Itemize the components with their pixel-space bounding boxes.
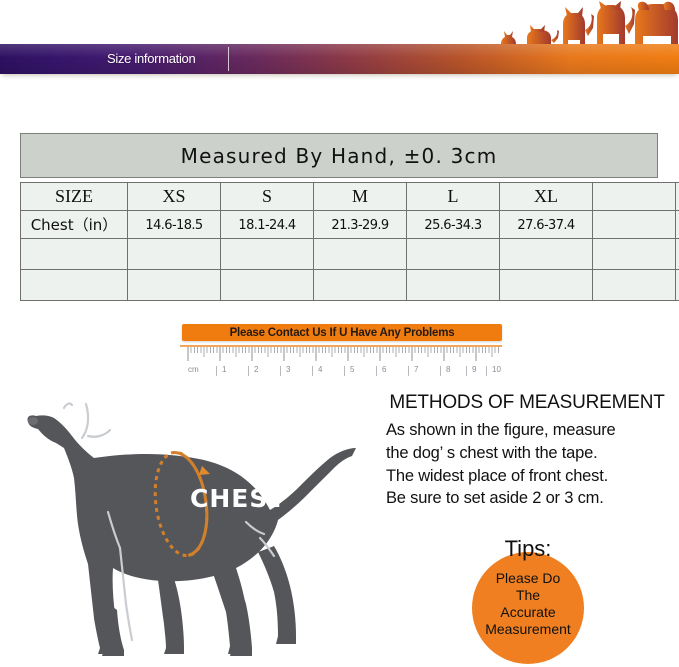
header-banner: Size information	[0, 0, 679, 86]
column-header-m: M	[352, 186, 368, 206]
ruler-label-8: 8	[446, 365, 450, 374]
ruler-graphic: cm 1 2 3 4 5 6 7 8 9 10	[180, 345, 502, 381]
tips-line-4: Measurement	[462, 621, 594, 638]
ruler-label-6: 6	[382, 365, 386, 374]
cell-chest-xl: 27.6-37.4	[517, 218, 574, 233]
tips-heading: Tips:	[472, 536, 584, 562]
header-title: Size information	[107, 51, 195, 66]
cell-chest-l: 25.6-34.3	[424, 218, 481, 233]
cell-empty-r1c0	[21, 239, 128, 270]
methods-body: As shown in the figure, measure the dog’…	[378, 420, 676, 510]
cell-empty-r1c2	[221, 239, 314, 270]
cell-empty-r1c5	[500, 239, 593, 270]
contact-banner-text: Please Contact Us If U Have Any Problems	[230, 327, 455, 339]
ruler-label-10: 10	[492, 365, 501, 374]
tips-line-3: Accurate	[462, 604, 594, 621]
cell-empty-r1c4	[407, 239, 500, 270]
dog-nose	[28, 417, 38, 425]
cell-empty-r2c2	[221, 270, 314, 301]
contact-banner: Please Contact Us If U Have Any Problems	[182, 324, 502, 341]
table-title-bar: Measured By Hand, ±0. 3cm	[20, 133, 658, 178]
cell-empty-r2c0	[21, 270, 128, 301]
ruler-label-2: 2	[254, 365, 258, 374]
tips-line-1: Please Do	[462, 570, 594, 587]
ruler-label-9: 9	[472, 365, 476, 374]
tips-text-block: Please Do The Accurate Measurement	[462, 570, 594, 638]
table-row-header: SIZE XS S M L XL	[21, 183, 679, 211]
ruler-label-cm: cm	[188, 365, 199, 374]
cell-chest-s: 18.1-24.4	[238, 218, 295, 233]
ruler-label-1: 1	[222, 365, 226, 374]
ruler-tick-marks	[180, 347, 502, 362]
cell-chest-m: 21.3-29.9	[331, 218, 388, 233]
tips-badge: Tips: Please Do The Accurate Measurement	[472, 552, 584, 664]
methods-line-1: As shown in the figure, measure	[386, 420, 676, 442]
column-header-s: S	[262, 186, 272, 206]
cell-empty-r1c3	[314, 239, 407, 270]
cell-empty-r1c1	[128, 239, 221, 270]
table-row-empty-1	[21, 239, 679, 270]
cell-empty-r2c1	[128, 270, 221, 301]
ruler-number-labels: cm 1 2 3 4 5 6 7 8 9 10	[180, 365, 502, 379]
tips-line-2: The	[462, 587, 594, 604]
column-header-size: SIZE	[55, 186, 93, 206]
cell-empty-r2c5	[500, 270, 593, 301]
size-chart-table: Measured By Hand, ±0. 3cm SIZE XS S M L …	[20, 133, 658, 301]
cell-empty-r2c6	[593, 270, 676, 301]
table-row-chest: Chest（in） 14.6-18.5 18.1-24.4 21.3-29.9 …	[21, 211, 679, 239]
ruler-label-7: 7	[414, 365, 418, 374]
chest-loop-arrowhead	[199, 466, 210, 475]
column-header-l: L	[448, 186, 459, 206]
methods-line-3: The widest place of front chest.	[386, 466, 676, 488]
table-row-empty-2	[21, 270, 679, 301]
methods-line-4: Be sure to set aside 2 or 3 cm.	[386, 488, 676, 510]
column-header-xl: XL	[534, 186, 558, 206]
header-divider	[228, 47, 229, 71]
header-gradient-bar	[0, 44, 679, 74]
column-header-xs: XS	[162, 186, 185, 206]
ruler-label-5: 5	[350, 365, 354, 374]
row-label-chest: Chest（in）	[31, 216, 118, 234]
methods-line-2: the dog’ s chest with the tape.	[386, 443, 676, 465]
methods-section: METHODS OF MEASUREMENT As shown in the f…	[378, 392, 676, 511]
ruler-label-3: 3	[286, 365, 290, 374]
ruler-label-4: 4	[318, 365, 322, 374]
cell-empty-r1c6	[593, 239, 676, 270]
cell-empty-r2c3	[314, 270, 407, 301]
cell-empty-r1c7	[676, 239, 679, 270]
methods-title: METHODS OF MEASUREMENT	[378, 392, 676, 414]
cell-chest-xs: 14.6-18.5	[145, 218, 202, 233]
cell-empty-r2c4	[407, 270, 500, 301]
table-title-text: Measured By Hand, ±0. 3cm	[181, 144, 498, 168]
cell-empty-r2c7	[676, 270, 679, 301]
chest-label: CHEST	[190, 484, 286, 513]
